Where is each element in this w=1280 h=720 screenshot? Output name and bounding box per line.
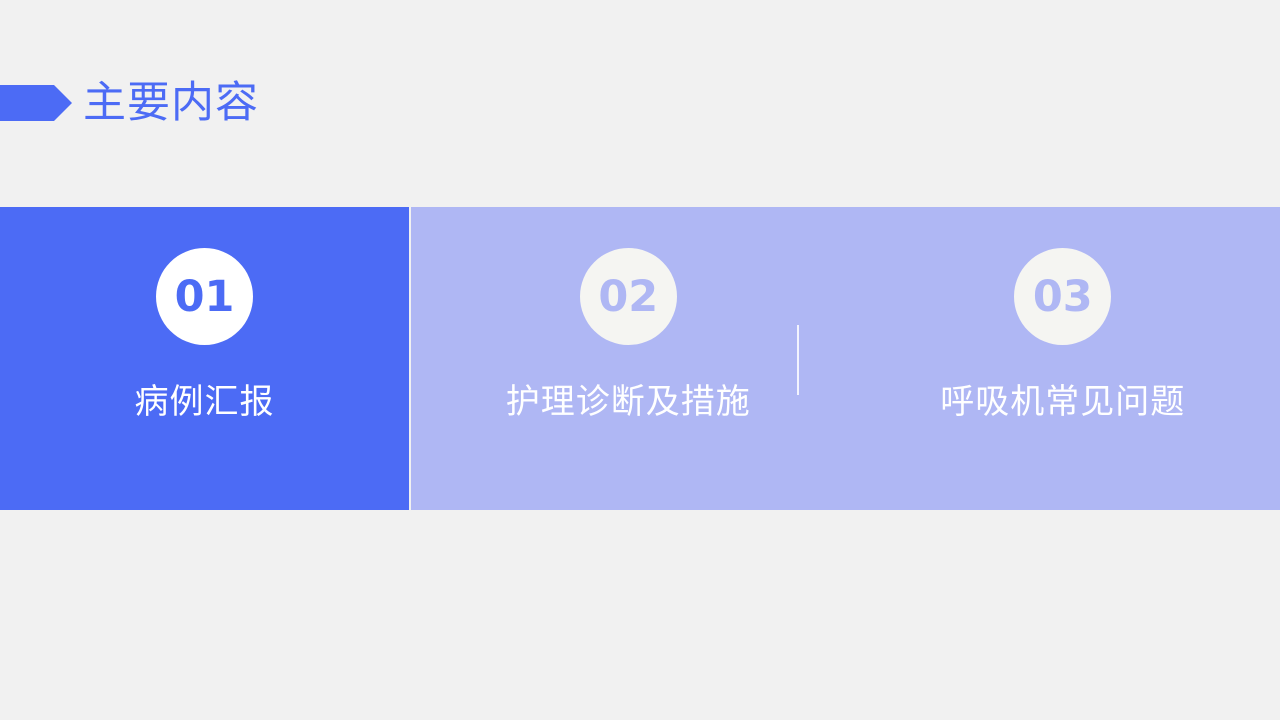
panel-number-badge-03: 03	[1014, 248, 1111, 345]
page-title: 主要内容	[83, 82, 259, 125]
panel-label-02: 护理诊断及措施	[506, 382, 751, 423]
content-panel-group-secondary: 02 护理诊断及措施 03 呼吸机常见问题	[411, 207, 1280, 510]
panel-number-badge-02: 02	[580, 248, 677, 345]
column-divider	[797, 325, 799, 395]
content-panel-01[interactable]: 01 病例汇报	[0, 207, 409, 510]
panel-label-03: 呼吸机常见问题	[940, 382, 1185, 423]
panel-number-badge-01: 01	[156, 248, 253, 345]
content-panel-02[interactable]: 02 护理诊断及措施	[411, 207, 846, 510]
slide-header: 主要内容	[0, 78, 259, 128]
content-panel-band: 01 病例汇报 02 护理诊断及措施 03 呼吸机常见问题	[0, 207, 1280, 510]
content-panel-03[interactable]: 03 呼吸机常见问题	[846, 207, 1280, 510]
arrow-banner-icon	[0, 85, 72, 121]
panel-label-01: 病例汇报	[135, 382, 275, 423]
